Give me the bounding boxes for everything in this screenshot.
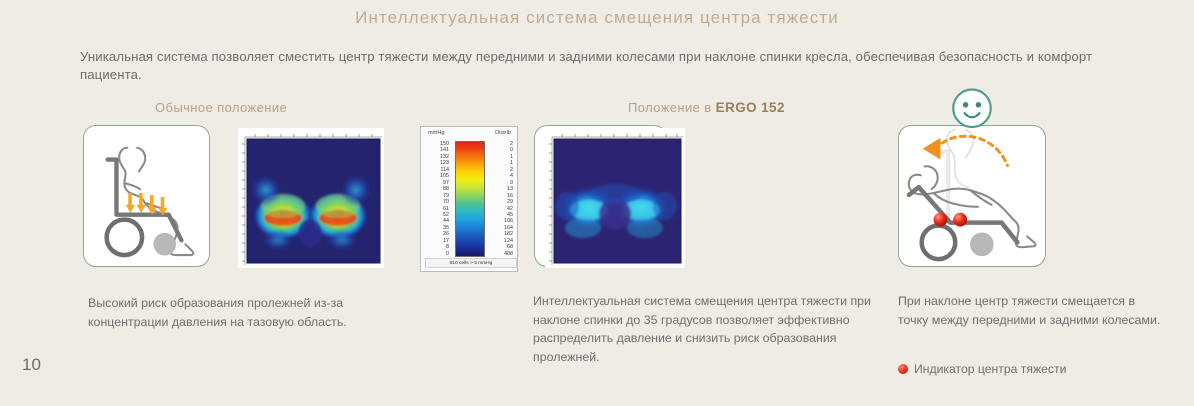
rotation-arrow-icon <box>923 136 1008 165</box>
cog-indicator-legend: Индикатор центра тяжести <box>898 362 1178 376</box>
caption-cog: При наклоне центр тяжести смещается в то… <box>898 292 1168 329</box>
section-label-normal: Обычное положение <box>155 100 287 115</box>
front-wheel-icon <box>153 233 176 256</box>
intro-paragraph: Уникальная система позволяет сместить це… <box>80 48 1130 84</box>
pressure-map-normal <box>238 128 384 268</box>
legend-value: 488 <box>489 251 513 257</box>
legend-colorbar <box>455 141 485 257</box>
legend-footer: 810 cells > 5 mmHg <box>425 258 517 268</box>
section-label-ergo-model: ERGO 152 <box>716 100 785 115</box>
page-title: Интеллектуальная система смещения центра… <box>0 8 1194 28</box>
legend-header-mmhg: mmHg <box>428 130 444 136</box>
rear-wheel-icon <box>922 226 956 260</box>
rear-wheel-icon <box>107 220 142 255</box>
legend-headers: mmHg Distrib <box>421 130 517 140</box>
panel-center-of-gravity <box>898 125 1046 267</box>
caption-tilt: Интеллектуальная система смещения центра… <box>533 292 883 366</box>
smiley-face-icon <box>953 90 990 127</box>
front-wheel-icon <box>970 232 994 256</box>
legend-mmhg-values: 1501411321231141059788797061524435261780 <box>425 141 449 257</box>
section-label-ergo: Положение в ERGO 152 <box>628 100 785 115</box>
cog-indicator-label: Индикатор центра тяжести <box>914 362 1066 376</box>
legend-distrib-values: 2011249131629424510616418212468488 <box>489 141 513 257</box>
caption-normal: Высокий риск образования пролежней из-за… <box>88 294 408 331</box>
wheelchair-recline-cog-icon <box>899 126 1045 266</box>
wheelchair-upright-icon <box>84 126 209 266</box>
pressure-map-tilted <box>545 128 685 268</box>
legend-value: 0 <box>425 251 449 257</box>
section-label-ergo-prefix: Положение в <box>628 100 716 115</box>
cog-indicator-dot-icon <box>898 364 908 374</box>
legend-header-distrib: Distrib <box>495 130 511 136</box>
page-number: 10 <box>22 355 41 375</box>
pressure-legend: mmHg Distrib 150141132123114105978879706… <box>420 126 518 272</box>
panel-wheelchair-upright <box>83 125 210 267</box>
